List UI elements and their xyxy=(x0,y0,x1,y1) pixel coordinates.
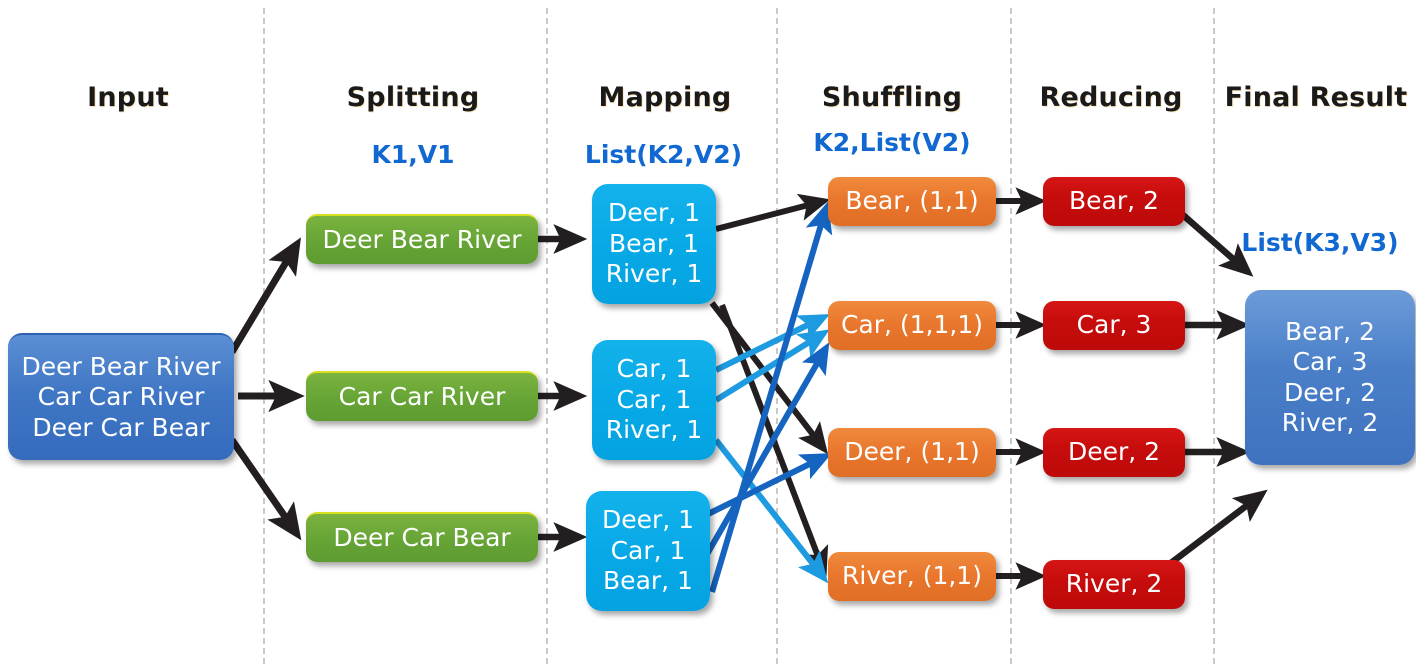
key-label-list-k2v2: List(K2,V2) xyxy=(561,140,766,169)
heading-reducing: Reducing xyxy=(1022,82,1200,113)
shuffle-box-bear-label: Bear, (1,1) xyxy=(845,186,978,217)
shuffle-box-deer[interactable]: Deer, (1,1) xyxy=(828,428,996,477)
reduce-box-river[interactable]: River, 2 xyxy=(1043,560,1185,609)
map-box-1-line-1: Deer, 1 xyxy=(608,198,700,229)
map-box-2[interactable]: Car, 1 Car, 1 River, 1 xyxy=(592,340,716,460)
split-box-1[interactable]: Deer Bear River xyxy=(306,214,538,264)
map-box-3-line-3: Bear, 1 xyxy=(603,566,693,597)
arrow-map1-bear-to-shuffle-bear xyxy=(716,201,824,229)
final-result-line-3: Deer, 2 xyxy=(1284,378,1376,409)
map-box-3-line-1: Deer, 1 xyxy=(602,505,694,536)
key-label-k2-list-v2: K2,List(V2) xyxy=(792,128,992,157)
reduce-box-river-label: River, 2 xyxy=(1066,569,1163,600)
heading-shuffling: Shuffling xyxy=(797,82,987,113)
heading-mapping: Mapping xyxy=(572,82,758,113)
reduce-box-bear-label: Bear, 2 xyxy=(1069,186,1159,217)
reduce-box-deer[interactable]: Deer, 2 xyxy=(1043,428,1185,477)
heading-input: Input xyxy=(38,82,218,113)
column-separator-3 xyxy=(776,8,778,664)
map-box-3[interactable]: Deer, 1 Car, 1 Bear, 1 xyxy=(586,491,710,611)
map-box-1-line-3: River, 1 xyxy=(606,259,703,290)
map-box-1[interactable]: Deer, 1 Bear, 1 River, 1 xyxy=(592,184,716,304)
map-box-2-line-1: Car, 1 xyxy=(617,354,692,385)
shuffle-box-deer-label: Deer, (1,1) xyxy=(844,437,979,468)
input-line-1: Deer Bear River xyxy=(21,352,220,383)
shuffle-box-river-label: River, (1,1) xyxy=(842,561,982,592)
final-result-line-4: River, 2 xyxy=(1282,408,1379,439)
diagram-canvas: Input Splitting Mapping Shuffling Reduci… xyxy=(0,0,1416,672)
split-box-1-label: Deer Bear River xyxy=(322,225,521,256)
arrow-map3-bear-to-shuffle-bear xyxy=(712,208,826,592)
arrow-map3-deer-to-shuffle-deer xyxy=(706,456,826,515)
split-box-3[interactable]: Deer Car Bear xyxy=(306,512,538,562)
reduce-box-car-label: Car, 3 xyxy=(1077,310,1152,341)
arrow-map1-deer-to-shuffle-deer xyxy=(712,303,824,449)
reduce-box-bear[interactable]: Bear, 2 xyxy=(1043,177,1185,226)
reduce-box-car[interactable]: Car, 3 xyxy=(1043,301,1185,350)
column-separator-4 xyxy=(1010,8,1012,664)
map-box-2-line-2: Car, 1 xyxy=(617,385,692,416)
input-line-2: Car Car River xyxy=(38,382,205,413)
arrow-map3-car-to-shuffle-car xyxy=(706,348,826,556)
arrow-map2-car2-to-shuffle-car xyxy=(716,333,824,400)
final-result-line-2: Car, 3 xyxy=(1293,347,1368,378)
arrow-map2-car1-to-shuffle-car xyxy=(716,317,824,370)
map-box-2-line-3: River, 1 xyxy=(606,415,703,446)
arrow-map1-river-to-shuffle-river xyxy=(722,305,824,572)
heading-final-result: Final Result xyxy=(1216,82,1416,113)
input-box[interactable]: Deer Bear River Car Car River Deer Car B… xyxy=(8,333,234,460)
shuffle-box-bear[interactable]: Bear, (1,1) xyxy=(828,177,996,226)
final-result-box[interactable]: Bear, 2 Car, 3 Deer, 2 River, 2 xyxy=(1245,290,1415,465)
map-box-3-line-2: Car, 1 xyxy=(611,536,686,567)
shuffle-box-river[interactable]: River, (1,1) xyxy=(828,552,996,601)
shuffle-box-car[interactable]: Car, (1,1,1) xyxy=(828,301,996,350)
split-box-2[interactable]: Car Car River xyxy=(306,371,538,421)
shuffle-box-car-label: Car, (1,1,1) xyxy=(841,310,983,341)
column-separator-5 xyxy=(1213,8,1215,664)
key-label-k1v1: K1,V1 xyxy=(322,140,504,169)
column-separator-1 xyxy=(263,8,265,664)
final-result-line-1: Bear, 2 xyxy=(1285,317,1375,348)
column-separator-2 xyxy=(546,8,548,664)
key-label-list-k3v3: List(K3,V3) xyxy=(1224,228,1416,257)
reduce-box-deer-label: Deer, 2 xyxy=(1068,437,1160,468)
arrow-map2-river-to-shuffle-river xyxy=(716,440,824,578)
split-box-3-label: Deer Car Bear xyxy=(333,523,510,554)
heading-splitting: Splitting xyxy=(322,82,504,113)
input-line-3: Deer Car Bear xyxy=(32,413,209,444)
map-box-1-line-2: Bear, 1 xyxy=(609,229,699,260)
split-box-2-label: Car Car River xyxy=(339,382,506,413)
